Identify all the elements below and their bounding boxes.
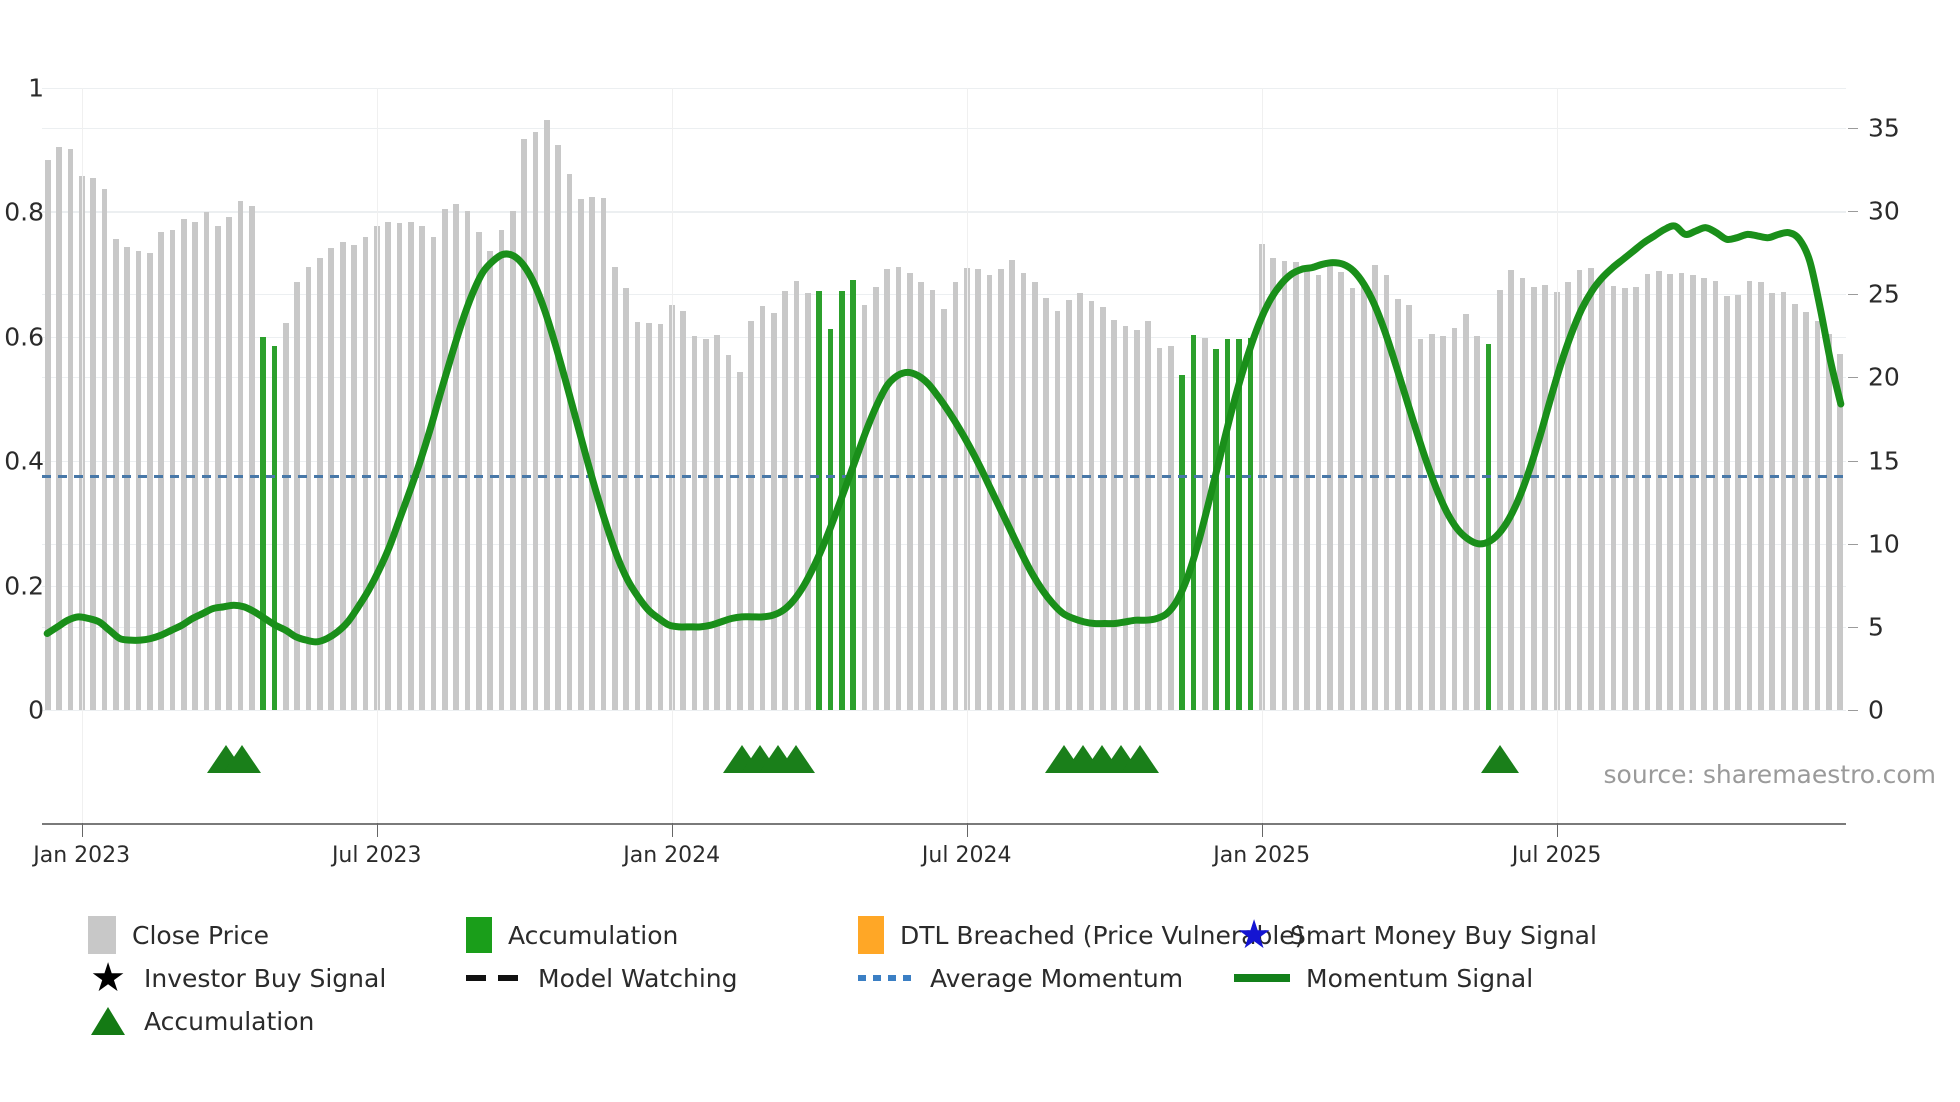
y-axis-left-tick-label: 0.2 [4, 571, 44, 600]
close-price-bar [1837, 354, 1843, 710]
legend-investor-buy-signal[interactable]: ★Investor Buy Signal [88, 958, 386, 998]
x-axis-tick-label: Jan 2023 [33, 843, 130, 868]
accumulation-triangle-marker [223, 745, 261, 773]
close-price-bar [1372, 265, 1378, 710]
chart-canvas: 00.20.40.60.8105101520253035Jan 2023Jul … [0, 0, 1960, 900]
close-price-bar [328, 248, 334, 710]
close-price-bar [692, 336, 698, 710]
close-price-bar [589, 197, 595, 710]
close-price-bar [1792, 304, 1798, 710]
y-axis-right-tick [1848, 211, 1858, 212]
y-axis-right-tick [1848, 544, 1858, 545]
close-price-bar [1463, 314, 1469, 710]
close-price-bar [646, 323, 652, 710]
close-price-bar [862, 305, 868, 710]
close-price-bar [1066, 300, 1072, 710]
x-axis-tick-label: Jan 2025 [1213, 843, 1310, 868]
close-price-bar [760, 306, 766, 710]
close-price-bar [953, 282, 959, 710]
legend-accumulation-marker[interactable]: Accumulation [88, 1001, 314, 1041]
accumulation-bar [1191, 335, 1197, 710]
gridline-vertical [377, 88, 378, 823]
investor-buy-star-icon: ★ [88, 959, 128, 997]
x-axis-tick-label: Jul 2025 [1512, 843, 1602, 868]
close-price-bar [1588, 268, 1594, 710]
close-price-bar [805, 293, 811, 710]
close-price-bar [1497, 290, 1503, 710]
momentum-signal-line-icon [1234, 959, 1290, 997]
close-price-bar [1157, 348, 1163, 710]
close-price-bar [714, 335, 720, 710]
legend-label: Close Price [132, 921, 269, 950]
legend-average-momentum[interactable]: Average Momentum [858, 958, 1183, 998]
legend-row: Accumulation [0, 1001, 1960, 1041]
accumulation-bar [839, 291, 845, 710]
close-price-bar [102, 189, 108, 710]
x-axis-line [42, 823, 1846, 825]
close-price-bar [1520, 278, 1526, 710]
x-axis-tick-label: Jan 2024 [623, 843, 720, 868]
close-price-bar [487, 251, 493, 710]
close-price-bar [226, 217, 232, 710]
close-price-bar [623, 288, 629, 710]
close-price-bar [1508, 270, 1514, 710]
gridline-vertical [1557, 88, 1558, 823]
y-axis-left-tick-label: 0.4 [4, 447, 44, 476]
close-price-bar [1384, 275, 1390, 710]
y-axis-right-tick-label: 10 [1868, 529, 1900, 558]
close-price-bar [1202, 338, 1208, 710]
y-axis-right-tick-label: 20 [1868, 363, 1900, 392]
gridline-horizontal [42, 88, 1846, 89]
close-price-bar [1701, 278, 1707, 710]
legend-label: Smart Money Buy Signal [1290, 921, 1597, 950]
close-price-bar [45, 160, 51, 710]
close-price-bar [1350, 288, 1356, 710]
accumulation-triangle-marker [1121, 745, 1159, 773]
close-price-bar [1803, 312, 1809, 710]
close-price-bar [408, 222, 414, 710]
close-price-bar [204, 212, 210, 710]
close-price-bar [136, 251, 142, 710]
close-price-bar [612, 267, 618, 710]
close-price-bar [499, 230, 505, 710]
y-axis-left-tick-label: 1 [28, 74, 44, 103]
y-axis-right-tick-label: 15 [1868, 446, 1900, 475]
close-price-bar [1622, 288, 1628, 710]
close-price-bar [998, 269, 1004, 710]
close-price-bar [306, 267, 312, 710]
y-axis-right-tick [1848, 377, 1858, 378]
accumulation-bar [1225, 339, 1231, 710]
close-price-bar [90, 178, 96, 710]
close-price-bar [1055, 311, 1061, 710]
close-price-bar [1758, 282, 1764, 710]
close-price-bar [1327, 265, 1333, 710]
close-price-bar [1338, 272, 1344, 710]
close-price-bar [1145, 321, 1151, 710]
legend-row: ★Investor Buy SignalModel WatchingAverag… [0, 958, 1960, 998]
legend-label: Momentum Signal [1306, 964, 1533, 993]
y-axis-right-tick-label: 0 [1868, 696, 1884, 725]
close-price-bar [544, 120, 550, 710]
accumulation-bar [828, 329, 834, 710]
close-price-bar [1316, 275, 1322, 710]
close-price-bar [1781, 292, 1787, 710]
close-price-bar [397, 223, 403, 710]
legend-accumulation-bar[interactable]: Accumulation [466, 915, 678, 955]
x-axis-tick-label: Jul 2023 [332, 843, 422, 868]
close-price-bar [419, 226, 425, 710]
legend-close-price[interactable]: Close Price [88, 915, 269, 955]
legend-row: Close PriceAccumulationDTL Breached (Pri… [0, 915, 1960, 955]
y-axis-left-tick-label: 0 [28, 696, 44, 725]
source-attribution: source: sharemaestro.com [1604, 760, 1937, 789]
close-price-bar [56, 147, 62, 710]
close-price-bar [1679, 273, 1685, 710]
dtl-breached-swatch-icon [858, 916, 884, 954]
close-price-bar [1645, 274, 1651, 710]
gridline-vertical [967, 88, 968, 823]
x-axis-tick [1262, 823, 1263, 837]
close-price-bar [703, 339, 709, 710]
close-price-bar [1542, 285, 1548, 710]
x-axis-tick-label: Jul 2024 [922, 843, 1012, 868]
close-price-bar [1077, 293, 1083, 710]
close-price-bar [635, 322, 641, 710]
close-price-bar [1123, 326, 1129, 710]
close-price-bar [181, 219, 187, 710]
close-price-bar [737, 372, 743, 710]
x-axis-tick [82, 823, 83, 837]
x-axis-tick [672, 823, 673, 837]
close-price-bar [1735, 295, 1741, 710]
close-price-bar [453, 204, 459, 710]
close-price-bar [555, 145, 561, 710]
close-price-bar [1429, 334, 1435, 710]
close-price-bar [147, 253, 153, 710]
close-price-bar [1395, 299, 1401, 710]
accumulation-bar [816, 291, 822, 710]
close-price-bar [680, 311, 686, 710]
close-price-bar [1021, 273, 1027, 710]
close-price-bar [1565, 282, 1571, 710]
close-price-bar [442, 209, 448, 710]
y-axis-right-tick [1848, 128, 1858, 129]
close-price-bar [1361, 286, 1367, 710]
close-price-bar [1769, 293, 1775, 710]
smart-money-star-icon: ★ [1234, 916, 1274, 954]
legend-label: Model Watching [538, 964, 738, 993]
gridline-vertical [672, 88, 673, 823]
close-price-bar [1713, 281, 1719, 710]
close-price-bar [1611, 286, 1617, 710]
close-price-bar [918, 282, 924, 710]
y-axis-right-tick-label: 35 [1868, 113, 1900, 142]
close-price-bar [317, 258, 323, 710]
y-axis-right-tick [1848, 294, 1858, 295]
chart-page: 00.20.40.60.8105101520253035Jan 2023Jul … [0, 0, 1960, 1102]
gridline-horizontal [42, 128, 1846, 129]
close-price-bar [567, 174, 573, 710]
close-price-bar [1667, 274, 1673, 710]
y-axis-right-tick-label: 30 [1868, 197, 1900, 226]
accumulation-triangle-marker [1481, 745, 1519, 773]
close-price-bar [907, 273, 913, 710]
gridline-horizontal [42, 212, 1846, 213]
close-price-bar [1474, 336, 1480, 710]
close-price-bar [1747, 281, 1753, 710]
close-price-bar [249, 206, 255, 710]
accumulation-bar [850, 280, 856, 710]
y-axis-right-tick-label: 25 [1868, 280, 1900, 309]
accumulation-bar [1248, 338, 1254, 710]
close-price-bar [884, 269, 890, 710]
close-price-bar [124, 247, 130, 710]
close-price-bar [1656, 271, 1662, 710]
close-price-bar [1633, 287, 1639, 710]
accumulation-triangle-marker [777, 745, 815, 773]
close-price-bar [476, 232, 482, 710]
legend-smart-money-buy-signal[interactable]: ★Smart Money Buy Signal [1234, 915, 1597, 955]
close-price-bar [1418, 339, 1424, 710]
close-price-bar [748, 321, 754, 710]
close-price-bar [1293, 262, 1299, 710]
close-price-bar [941, 309, 947, 710]
gridline-horizontal [42, 294, 1846, 295]
close-price-bar [1009, 260, 1015, 710]
y-axis-left-tick-label: 0.8 [4, 198, 44, 227]
close-price-bar [465, 211, 471, 710]
close-price-bar [1282, 261, 1288, 710]
legend-label: Accumulation [144, 1007, 314, 1036]
average-momentum-dotted-icon [858, 959, 914, 997]
y-axis-right-tick-label: 5 [1868, 612, 1884, 641]
close-price-swatch-icon [88, 916, 116, 954]
close-price-bar [510, 211, 516, 710]
close-price-bar [294, 282, 300, 710]
close-price-bar [771, 313, 777, 710]
legend-momentum-signal[interactable]: Momentum Signal [1234, 958, 1533, 998]
legend-label: Average Momentum [930, 964, 1183, 993]
close-price-bar [1406, 305, 1412, 710]
legend-model-watching[interactable]: Model Watching [466, 958, 738, 998]
close-price-bar [283, 323, 289, 711]
close-price-bar [1100, 307, 1106, 710]
gridline-horizontal [42, 211, 1846, 212]
close-price-bar [238, 201, 244, 710]
close-price-bar [1577, 270, 1583, 710]
close-price-bar [521, 139, 527, 710]
close-price-bar [1826, 334, 1832, 710]
y-axis-right-tick [1848, 710, 1858, 711]
close-price-bar [1270, 258, 1276, 710]
close-price-bar [975, 269, 981, 710]
close-price-bar [363, 237, 369, 710]
x-axis-tick [967, 823, 968, 837]
close-price-bar [658, 324, 664, 710]
close-price-bar [578, 199, 584, 710]
accumulation-triangle-icon [88, 1002, 128, 1040]
accumulation-bar [1179, 375, 1185, 710]
close-price-bar [1440, 336, 1446, 710]
close-price-bar [601, 198, 607, 710]
close-price-bar [68, 149, 74, 710]
close-price-bar [782, 291, 788, 710]
gridline-vertical [82, 88, 83, 823]
model-watching-dash-icon [466, 959, 522, 997]
legend-label: Accumulation [508, 921, 678, 950]
close-price-bar [1690, 275, 1696, 710]
x-axis-tick [1557, 823, 1558, 837]
gridline-horizontal [42, 710, 1846, 711]
close-price-bar [192, 222, 198, 710]
y-axis-left-tick-label: 0.6 [4, 322, 44, 351]
accumulation-bar [1213, 349, 1219, 710]
close-price-bar [1815, 321, 1821, 710]
close-price-bar [930, 290, 936, 710]
close-price-bar [1111, 320, 1117, 710]
close-price-bar [1043, 298, 1049, 710]
average-momentum-line [42, 475, 1846, 478]
accumulation-bar [1486, 344, 1492, 710]
close-price-bar [1089, 301, 1095, 710]
accumulation-bar [1236, 339, 1242, 710]
legend-label: Investor Buy Signal [144, 964, 386, 993]
plot-area [42, 88, 1846, 710]
close-price-bar [794, 281, 800, 710]
gridline-vertical [1262, 88, 1263, 823]
close-price-bar [1724, 296, 1730, 710]
accumulation-swatch-icon [466, 917, 492, 953]
accumulation-bar [272, 346, 278, 710]
close-price-bar [1452, 328, 1458, 710]
close-price-bar [1531, 287, 1537, 710]
close-price-bar [1304, 270, 1310, 710]
close-price-bar [1134, 330, 1140, 710]
close-price-bar [170, 230, 176, 710]
close-price-bar [1032, 282, 1038, 710]
close-price-bar [1168, 346, 1174, 710]
close-price-bar [726, 355, 732, 710]
chart-legend: Close PriceAccumulationDTL Breached (Pri… [0, 915, 1960, 1095]
close-price-bar [533, 132, 539, 710]
close-price-bar [385, 222, 391, 710]
close-price-bar [987, 275, 993, 710]
close-price-bar [158, 232, 164, 710]
close-price-bar [1599, 279, 1605, 710]
y-axis-right-tick [1848, 627, 1858, 628]
x-axis-tick [377, 823, 378, 837]
close-price-bar [873, 287, 879, 710]
accumulation-bar [260, 337, 266, 710]
close-price-bar [215, 226, 221, 710]
y-axis-right-tick [1848, 461, 1858, 462]
close-price-bar [896, 267, 902, 710]
